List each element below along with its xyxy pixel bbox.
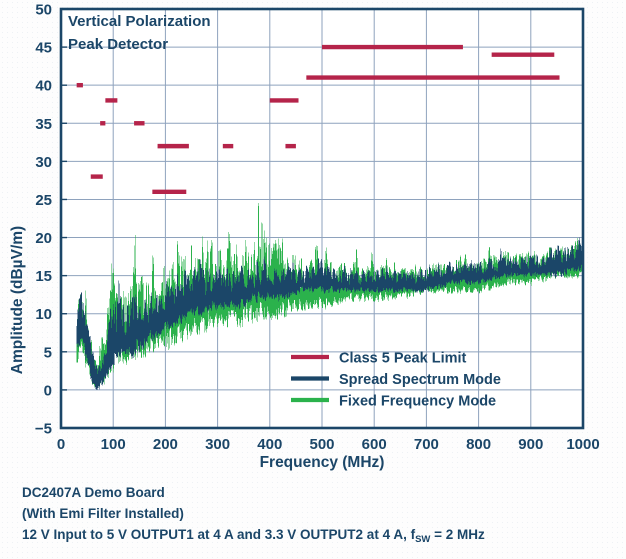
legend-label: Class 5 Peak Limit (339, 351, 467, 367)
y-tick-label: 25 (35, 192, 52, 209)
y-tick-label: 20 (35, 230, 52, 247)
y-tick-label: 45 (35, 40, 52, 57)
x-tick-label: 100 (101, 436, 126, 453)
chart-svg: −505101520253035404550010020030040050060… (0, 0, 626, 559)
caption-line-1: DC2407A Demo Board (22, 485, 165, 500)
legend-label: Fixed Frequency Mode (339, 394, 496, 410)
caption-line-3: 12 V Input to 5 V OUTPUT1 at 4 A and 3.3… (22, 527, 485, 545)
caption-line-3-b: = 2 MHz (430, 527, 485, 542)
x-tick-label: 300 (205, 436, 230, 453)
emi-scan-figure: −505101520253035404550010020030040050060… (0, 0, 626, 559)
x-tick-label: 600 (362, 436, 387, 453)
y-tick-label: 0 (44, 382, 52, 399)
y-tick-label: 40 (35, 78, 52, 95)
plot-title-line1: Vertical Polarization (68, 13, 211, 30)
x-tick-label: 200 (153, 436, 178, 453)
x-tick-label: 400 (257, 436, 282, 453)
legend-label: Spread Spectrum Mode (339, 372, 501, 388)
y-axis-title: Amplitude (dBµV/m) (9, 226, 26, 374)
y-tick-label: 15 (35, 268, 52, 285)
y-tick-label: 10 (35, 306, 52, 323)
x-tick-label: 800 (466, 436, 491, 453)
caption-line-2: (With Emi Filter Installed) (22, 506, 184, 521)
plot-title-line2: Peak Detector (68, 36, 168, 53)
x-tick-label: 900 (518, 436, 543, 453)
x-axis-title: Frequency (MHz) (260, 454, 385, 471)
x-tick-label: 700 (414, 436, 439, 453)
x-tick-label: 1000 (566, 436, 599, 453)
y-tick-label: 50 (35, 2, 52, 19)
y-tick-label: −5 (35, 421, 52, 438)
caption-line-3-a: 12 V Input to 5 V OUTPUT1 at 4 A and 3.3… (22, 527, 416, 542)
y-tick-label: 35 (35, 116, 52, 133)
x-tick-label: 500 (309, 436, 334, 453)
x-tick-label: 0 (57, 436, 65, 453)
caption-line-3-sub: SW (415, 534, 430, 545)
y-tick-label: 5 (44, 344, 52, 361)
y-tick-label: 30 (35, 154, 52, 171)
grid-layer (61, 9, 583, 428)
